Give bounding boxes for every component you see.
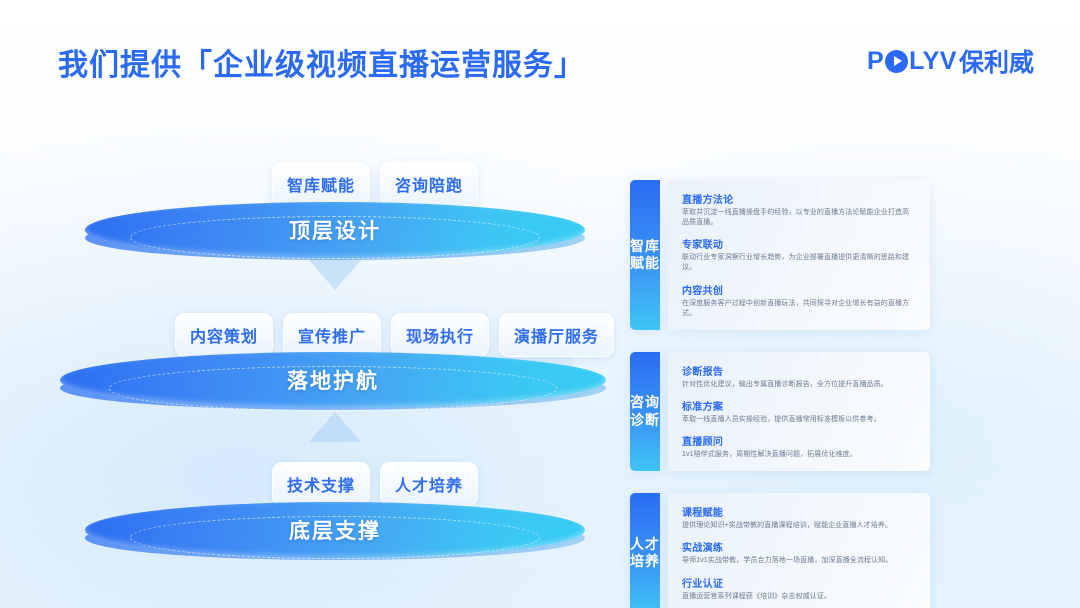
chip-bottom-1[interactable]: 人才培养 <box>380 462 478 506</box>
connector-arrow-up <box>309 412 361 442</box>
item-desc: 针对性优化建议，输出专属直播诊断报告，全方位提升直播品质。 <box>682 380 916 390</box>
panel-item: 标准方案 萃取一线直播人员实操经验，提供直播常用标准模板以供参考。 <box>682 398 916 425</box>
service-panel-1[interactable]: 咨询诊断 诊断报告 针对性优化建议，输出专属直播诊断报告，全方位提升直播品质。 … <box>630 352 930 471</box>
chip-top-1[interactable]: 咨询陪跑 <box>380 162 478 206</box>
service-panel-2[interactable]: 人才培养 课程赋能 提供理论知识+实战带教的直播课程培训，赋能企业直播人才培养。… <box>630 493 930 608</box>
panel-tab-1: 咨询诊断 <box>630 352 660 471</box>
item-title: 专家联动 <box>682 236 916 251</box>
item-desc: 导师1v1实战带教，学员合力落地一场直播，加深直播全流程认知。 <box>682 556 916 566</box>
logo-chinese-name: 保利威 <box>959 43 1034 79</box>
item-desc: 在深度服务客户过程中创新直播玩法，共同探寻对企业增长有益的直播方式。 <box>682 299 916 319</box>
disc-bottom-label: 底层支撑 <box>85 502 585 558</box>
slide-root: 我们提供「企业级视频直播运营服务」 P LYV 保利威 智库赋能 咨询陪跑 顶层… <box>0 0 1080 608</box>
logo-wordmark: P LYV <box>867 47 957 76</box>
chip-group-middle: 内容策划 宣传推广 现场执行 演播厅服务 <box>175 313 614 357</box>
page-title: 我们提供「企业级视频直播运营服务」 <box>58 40 585 84</box>
panel-item: 直播方法论 萃取并沉淀一线直播操盘手的经验，以专业的直播方法论赋能企业打造高品质… <box>682 191 916 228</box>
item-desc: 提供理论知识+实战带教的直播课程培训，赋能企业直播人才培养。 <box>682 521 916 531</box>
item-title: 实战演练 <box>682 539 916 554</box>
panel-body-2: 课程赋能 提供理论知识+实战带教的直播课程培训，赋能企业直播人才培养。 实战演练… <box>668 493 930 608</box>
service-panel-0[interactable]: 智库赋能 直播方法论 萃取并沉淀一线直播操盘手的经验，以专业的直播方法论赋能企业… <box>630 180 930 330</box>
panel-item: 诊断报告 针对性优化建议，输出专属直播诊断报告，全方位提升直播品质。 <box>682 363 916 390</box>
panel-body-1: 诊断报告 针对性优化建议，输出专属直播诊断报告，全方位提升直播品质。 标准方案 … <box>668 352 930 471</box>
disc-middle-label: 落地护航 <box>60 352 606 408</box>
item-title: 课程赋能 <box>682 504 916 519</box>
panel-tab-0: 智库赋能 <box>630 180 660 330</box>
item-title: 行业认证 <box>682 575 916 590</box>
panel-item: 课程赋能 提供理论知识+实战带教的直播课程培训，赋能企业直播人才培养。 <box>682 504 916 531</box>
item-desc: 联动行业专家洞察行业增长趋势，为企业部署直播提供更清晰的思路和建议。 <box>682 253 916 273</box>
chip-group-bottom: 技术支撑 人才培养 <box>272 462 478 506</box>
item-title: 直播顾问 <box>682 433 916 448</box>
disc-bottom: 底层支撑 <box>85 502 585 572</box>
panel-item: 直播顾问 1v1陪伴式服务，周期性解决直播问题，拓展优化维度。 <box>682 433 916 460</box>
connector-arrow-down <box>309 260 361 290</box>
panel-item: 专家联动 联动行业专家洞察行业增长趋势，为企业部署直播提供更清晰的思路和建议。 <box>682 236 916 273</box>
panel-tab-2: 人才培养 <box>630 493 660 608</box>
chip-mid-2[interactable]: 现场执行 <box>391 313 489 357</box>
item-desc: 直播运营官系列课程获《培训》杂志权威认证。 <box>682 592 916 602</box>
logo-letters-lyv: LYV <box>909 47 957 76</box>
panel-item: 内容共创 在深度服务客户过程中创新直播玩法，共同探寻对企业增长有益的直播方式。 <box>682 282 916 319</box>
brand-logo: P LYV 保利威 <box>867 43 1034 79</box>
service-panel-list: 智库赋能 直播方法论 萃取并沉淀一线直播操盘手的经验，以专业的直播方法论赋能企业… <box>630 180 930 608</box>
item-desc: 1v1陪伴式服务，周期性解决直播问题，拓展优化维度。 <box>682 450 916 460</box>
item-desc: 萃取一线直播人员实操经验，提供直播常用标准模板以供参考。 <box>682 415 916 425</box>
chip-group-top: 智库赋能 咨询陪跑 <box>272 162 478 206</box>
item-title: 诊断报告 <box>682 363 916 378</box>
item-title: 直播方法论 <box>682 191 916 206</box>
logo-letter-p: P <box>867 47 884 76</box>
chip-mid-0[interactable]: 内容策划 <box>175 313 273 357</box>
item-desc: 萃取并沉淀一线直播操盘手的经验，以专业的直播方法论赋能企业打造高品质直播。 <box>682 208 916 228</box>
chip-mid-1[interactable]: 宣传推广 <box>283 313 381 357</box>
chip-top-0[interactable]: 智库赋能 <box>272 162 370 206</box>
item-title: 标准方案 <box>682 398 916 413</box>
chip-mid-3[interactable]: 演播厅服务 <box>499 313 614 357</box>
panel-item: 实战演练 导师1v1实战带教，学员合力落地一场直播，加深直播全流程认知。 <box>682 539 916 566</box>
panel-item: 行业认证 直播运营官系列课程获《培训》杂志权威认证。 <box>682 575 916 602</box>
item-title: 内容共创 <box>682 282 916 297</box>
panel-body-0: 直播方法论 萃取并沉淀一线直播操盘手的经验，以专业的直播方法论赋能企业打造高品质… <box>668 180 930 330</box>
tier-diagram: 智库赋能 咨询陪跑 顶层设计 内容策划 宣传推广 现场执行 演播厅服务 <box>60 140 620 580</box>
chip-bottom-0[interactable]: 技术支撑 <box>272 462 370 506</box>
play-icon <box>885 50 908 73</box>
disc-top-label: 顶层设计 <box>85 202 585 258</box>
